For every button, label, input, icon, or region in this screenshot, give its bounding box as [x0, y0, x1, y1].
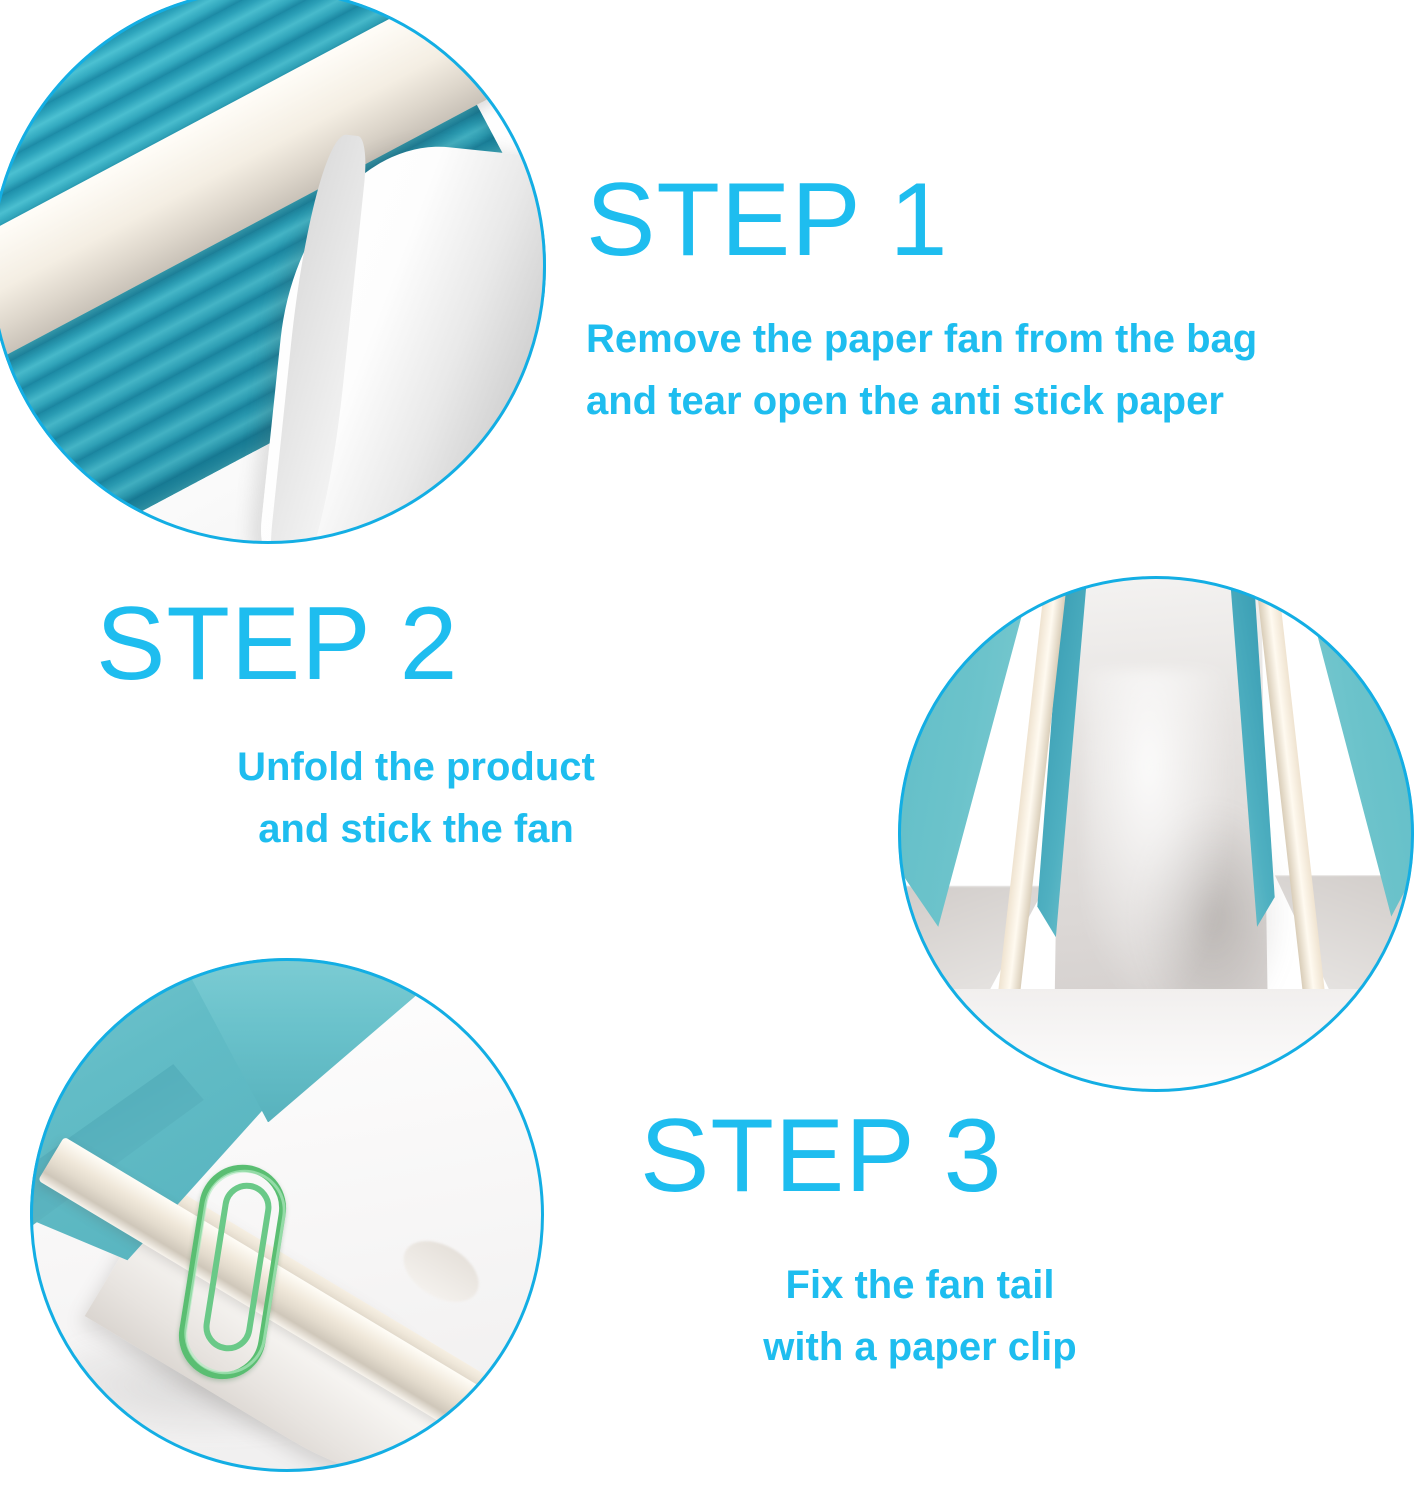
step-3-text-block: STEP 3 Fix the fan tail with a paper cli… — [640, 1104, 1200, 1378]
table-surface — [898, 989, 1414, 1092]
step-1-photo-circle — [0, 0, 546, 544]
step-3-photo-circle — [30, 958, 544, 1472]
step-2-description: Unfold the product and stick the fan — [96, 736, 736, 860]
instruction-sheet: STEP 1 Remove the paper fan from the bag… — [0, 0, 1418, 1500]
step-1-line-2: and tear open the anti stick paper — [586, 370, 1257, 432]
step-2-title: STEP 2 — [96, 592, 736, 696]
step-3-line-2: with a paper clip — [640, 1316, 1200, 1378]
step-1-title: STEP 1 — [586, 168, 1257, 272]
step-1-description: Remove the paper fan from the bag and te… — [586, 308, 1257, 432]
step-1-line-1: Remove the paper fan from the bag — [586, 308, 1257, 370]
step-2-photo-circle — [898, 576, 1414, 1092]
center-highlight — [1084, 669, 1239, 1020]
step-3-photo-inner — [30, 958, 544, 1472]
step-3-line-1: Fix the fan tail — [640, 1254, 1200, 1316]
step-2-photo-inner — [898, 576, 1414, 1092]
step-2-line-1: Unfold the product — [96, 736, 736, 798]
step-2-line-2: and stick the fan — [96, 798, 736, 860]
step-1-photo-inner — [0, 0, 546, 544]
step-3-description: Fix the fan tail with a paper clip — [640, 1254, 1200, 1378]
step-1-text-block: STEP 1 Remove the paper fan from the bag… — [586, 168, 1257, 432]
step-2-text-block: STEP 2 Unfold the product and stick the … — [96, 592, 736, 860]
step-3-title: STEP 3 — [640, 1104, 1200, 1208]
